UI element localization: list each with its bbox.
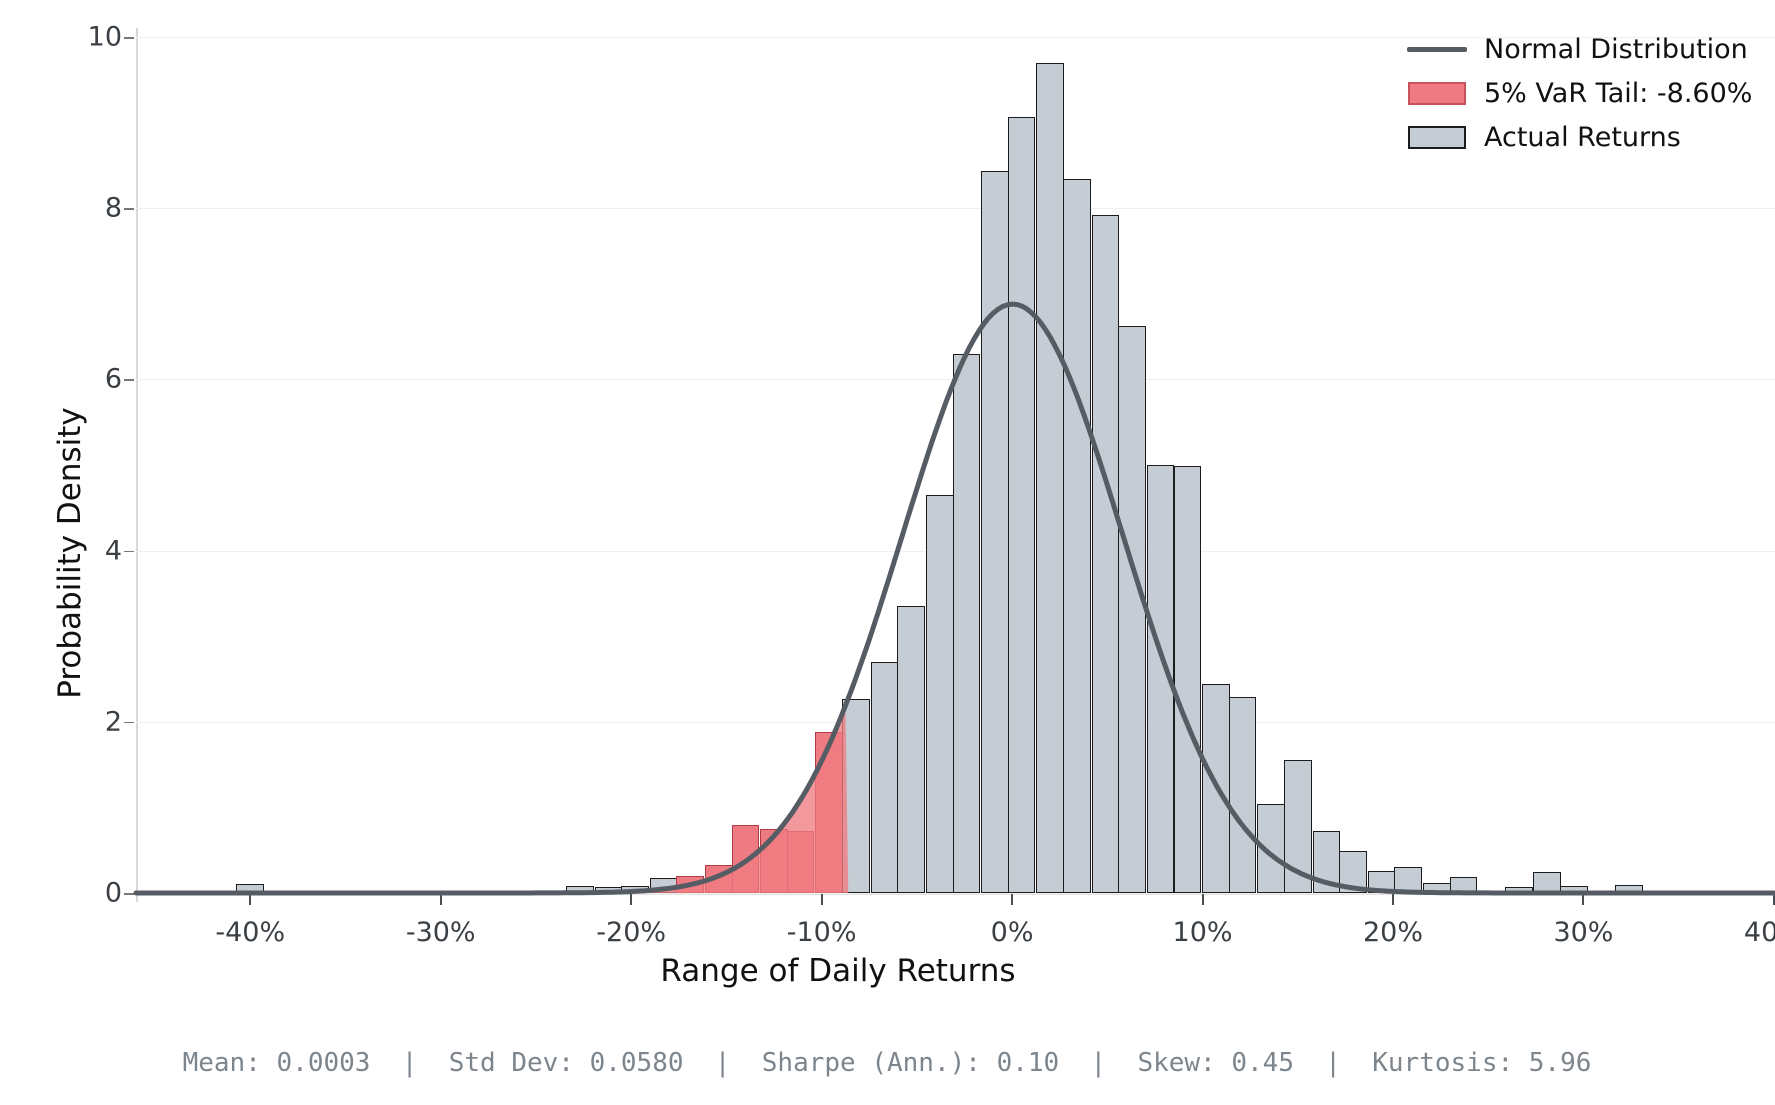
legend-line-swatch-icon — [1407, 47, 1467, 52]
chart-legend[interactable]: Normal Distribution5% VaR Tail: -8.60%Ac… — [1400, 28, 1757, 158]
x-tick-label: -40% — [215, 917, 285, 948]
footer-stats-text: Mean: 0.0003 | Std Dev: 0.0580 | Sharpe … — [183, 1048, 1592, 1078]
legend-item[interactable]: 5% VaR Tail: -8.60% — [1406, 76, 1751, 110]
legend-key-normal — [1406, 37, 1468, 61]
x-axis-label: Range of Daily Returns — [660, 953, 1015, 989]
x-tick-mark — [1392, 894, 1394, 905]
legend-item-label: Normal Distribution — [1484, 34, 1748, 65]
x-tick-label: 0% — [991, 917, 1034, 948]
legend-patch-swatch-icon — [1408, 126, 1466, 149]
plot-area: 0246810 -40%-30%-20%-10%0%10%20%30%40% — [136, 37, 1775, 893]
x-tick-mark — [440, 894, 442, 905]
x-tick-label: 10% — [1173, 917, 1233, 948]
x-tick-label: -20% — [596, 917, 666, 948]
legend-key-actual — [1406, 125, 1468, 149]
x-tick-label: -30% — [406, 917, 476, 948]
legend-item-label: 5% VaR Tail: -8.60% — [1484, 78, 1752, 109]
legend-item-label: Actual Returns — [1484, 122, 1681, 153]
normal-distribution-curve — [136, 37, 1775, 893]
legend-patch-swatch-icon — [1408, 82, 1466, 105]
x-tick-label: 30% — [1553, 917, 1613, 948]
x-tick-mark — [821, 894, 823, 905]
x-tick-mark — [630, 894, 632, 905]
x-tick-label: 20% — [1363, 917, 1423, 948]
legend-key-var — [1406, 81, 1468, 105]
chart-figure: 0246810 -40%-30%-20%-10%0%10%20%30%40% P… — [0, 0, 1775, 1105]
legend-item[interactable]: Normal Distribution — [1406, 32, 1751, 66]
y-axis-label: Probability Density — [52, 407, 88, 699]
x-tick-label: -10% — [787, 917, 857, 948]
legend-item[interactable]: Actual Returns — [1406, 120, 1751, 154]
x-tick-mark — [1202, 894, 1204, 905]
x-tick-label: 40% — [1744, 917, 1775, 948]
normal-curve-path — [136, 304, 1775, 893]
x-tick-mark — [249, 894, 251, 905]
x-tick-mark — [1582, 894, 1584, 905]
x-tick-mark — [1011, 894, 1013, 905]
